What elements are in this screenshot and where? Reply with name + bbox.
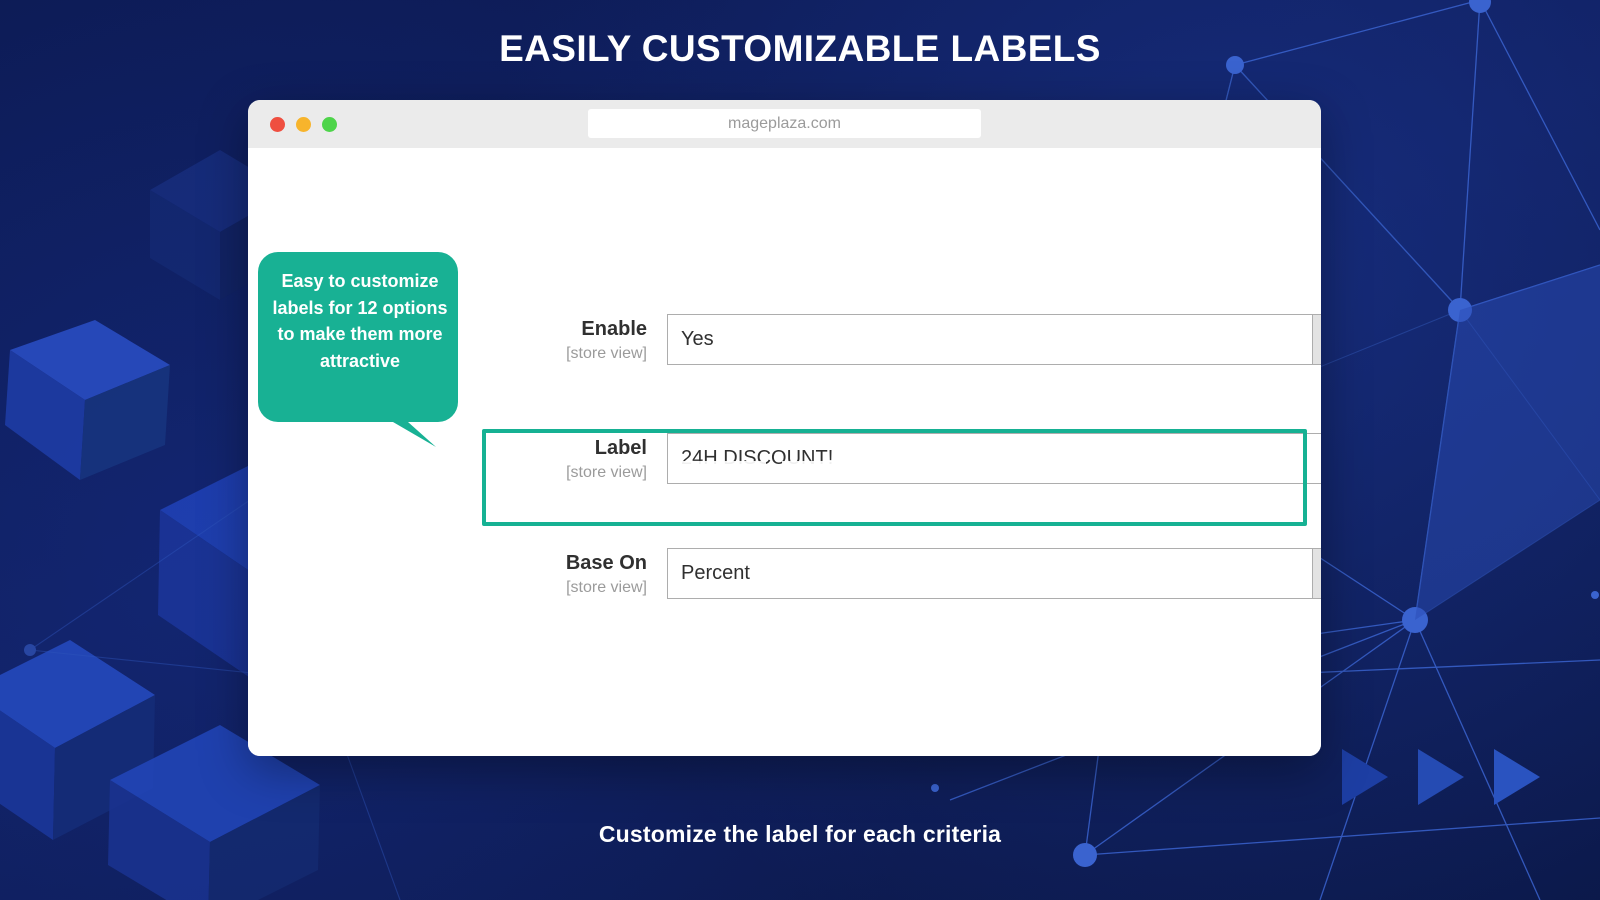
chevron-down-icon[interactable] bbox=[1312, 315, 1321, 364]
play-arrow-3 bbox=[1494, 749, 1540, 805]
base-on-select[interactable]: Percent bbox=[667, 548, 1321, 599]
field-control-enable: Yes bbox=[667, 314, 1321, 365]
field-label-text: Enable bbox=[482, 317, 647, 342]
cube-1 bbox=[0, 300, 210, 540]
field-label-base-on: Base On [store view] bbox=[482, 548, 667, 600]
browser-titlebar: mageplaza.com bbox=[248, 100, 1321, 148]
label-input[interactable]: 24H DISCOUNT! bbox=[667, 433, 1321, 484]
field-row-base-on: Base On [store view] Percent bbox=[482, 548, 1321, 600]
address-bar-text: mageplaza.com bbox=[728, 115, 841, 133]
field-label-text: Label bbox=[482, 436, 647, 461]
field-row-label: Label [store view] 24H DISCOUNT! bbox=[482, 433, 1321, 485]
page-title: EASILY CUSTOMIZABLE LABELS bbox=[0, 28, 1600, 70]
field-label-enable: Enable [store view] bbox=[482, 314, 667, 366]
callout-bubble-text: Easy to customize labels for 12 options … bbox=[262, 268, 458, 375]
chevron-down-icon[interactable] bbox=[1312, 549, 1321, 598]
field-scope-text: [store view] bbox=[482, 342, 647, 366]
base-on-select-value: Percent bbox=[668, 549, 1312, 598]
footer-caption: Customize the label for each criteria bbox=[0, 821, 1600, 848]
field-row-enable: Enable [store view] Yes bbox=[482, 314, 1321, 366]
field-control-label: 24H DISCOUNT! bbox=[667, 433, 1321, 484]
field-scope-text: [store view] bbox=[482, 461, 647, 485]
field-scope-text: [store view] bbox=[482, 576, 647, 600]
address-bar[interactable]: mageplaza.com bbox=[588, 109, 981, 138]
enable-select[interactable]: Yes bbox=[667, 314, 1321, 365]
play-arrow-group bbox=[1342, 749, 1540, 805]
field-control-base-on: Percent bbox=[667, 548, 1321, 599]
play-arrow-1 bbox=[1342, 749, 1388, 805]
maximize-icon[interactable] bbox=[322, 117, 337, 132]
close-icon[interactable] bbox=[270, 117, 285, 132]
enable-select-value: Yes bbox=[668, 315, 1312, 364]
page-content: Enable [store view] Yes Label [store vie… bbox=[248, 148, 1321, 756]
traffic-lights bbox=[270, 117, 337, 132]
field-label-label: Label [store view] bbox=[482, 433, 667, 485]
field-label-text: Base On bbox=[482, 551, 647, 576]
minimize-icon[interactable] bbox=[296, 117, 311, 132]
play-arrow-2 bbox=[1418, 749, 1464, 805]
